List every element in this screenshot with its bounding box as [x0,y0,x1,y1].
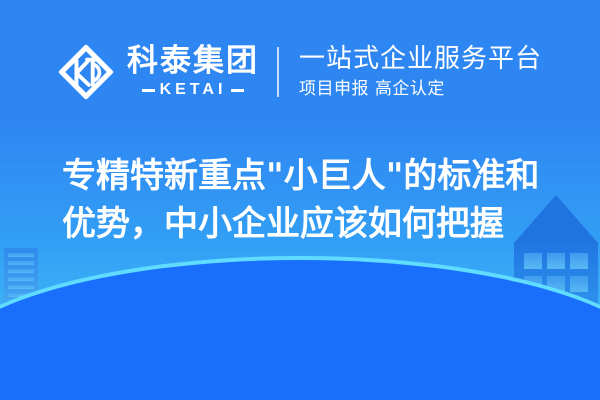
banner-header: 科泰集团 KETAI 一站式企业服务平台 项目申报 高企认定 [0,34,600,110]
brand-dash-right-icon [231,89,244,92]
ketai-logo-icon [58,44,114,100]
ground-curve [0,260,600,400]
brand-dash-left-icon [142,89,155,92]
brand-name-cn: 科泰集团 [127,46,259,77]
tagline-main: 一站式企业服务平台 [299,45,542,74]
brand-wordmark: 科泰集团 KETAI [127,46,259,98]
tagline-block: 一站式企业服务平台 项目申报 高企认定 [279,45,542,99]
brand-name-en-row: KETAI [142,82,245,98]
brand-lockup: 科泰集团 KETAI [58,44,277,100]
banner-headline: 专精特新重点"小巨人"的标准和优势，中小企业应该如何把握 [62,152,562,249]
tagline-sub: 项目申报 高企认定 [299,80,542,99]
promo-banner: 科泰集团 KETAI 一站式企业服务平台 项目申报 高企认定 专精特新重点"小巨… [0,0,600,400]
brand-name-en: KETAI [160,82,227,98]
